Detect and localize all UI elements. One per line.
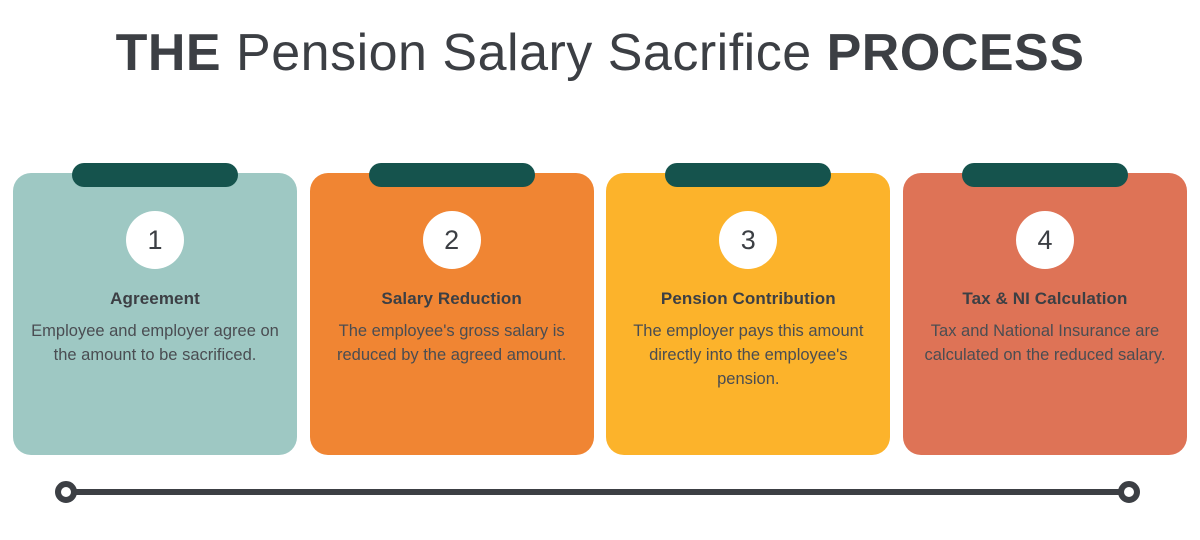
card-tab-4: [962, 163, 1128, 187]
step-number-1: 1: [147, 227, 162, 254]
title-prefix: THE: [116, 24, 222, 82]
process-step-card-1[interactable]: 1 Agreement Employee and employer agree …: [13, 163, 297, 455]
step-title-4: Tax & NI Calculation: [962, 289, 1127, 309]
page-title: THE Pension Salary Sacrifice PROCESS: [0, 22, 1200, 84]
step-number-3: 3: [741, 227, 756, 254]
card-body-4: 4 Tax & NI Calculation Tax and National …: [903, 173, 1187, 455]
timeline-line: [66, 489, 1129, 495]
card-body-1: 1 Agreement Employee and employer agree …: [13, 173, 297, 455]
step-description-4: Tax and National Insurance are calculate…: [920, 319, 1170, 367]
process-step-card-2[interactable]: 2 Salary Reduction The employee's gross …: [310, 163, 594, 455]
step-number-2: 2: [444, 227, 459, 254]
step-number-circle-3: 3: [719, 211, 777, 269]
title-middle: Pension Salary Sacrifice: [236, 24, 812, 82]
timeline-end-dot-icon: [1118, 481, 1140, 503]
card-tab-1: [72, 163, 238, 187]
process-steps-row: 1 Agreement Employee and employer agree …: [13, 163, 1187, 455]
infographic-canvas: THE Pension Salary Sacrifice PROCESS 1 A…: [0, 0, 1200, 540]
step-description-2: The employee's gross salary is reduced b…: [327, 319, 577, 367]
step-number-circle-1: 1: [126, 211, 184, 269]
card-tab-3: [665, 163, 831, 187]
card-body-2: 2 Salary Reduction The employee's gross …: [310, 173, 594, 455]
step-title-2: Salary Reduction: [381, 289, 521, 309]
title-suffix: PROCESS: [827, 24, 1085, 82]
step-description-1: Employee and employer agree on the amoun…: [30, 319, 280, 367]
step-description-3: The employer pays this amount directly i…: [623, 319, 873, 391]
process-step-card-3[interactable]: 3 Pension Contribution The employer pays…: [606, 163, 890, 455]
step-number-circle-4: 4: [1016, 211, 1074, 269]
timeline-start-dot-icon: [55, 481, 77, 503]
step-number-circle-2: 2: [423, 211, 481, 269]
step-title-1: Agreement: [110, 289, 200, 309]
process-step-card-4[interactable]: 4 Tax & NI Calculation Tax and National …: [903, 163, 1187, 455]
step-number-4: 4: [1037, 227, 1052, 254]
card-tab-2: [369, 163, 535, 187]
step-title-3: Pension Contribution: [661, 289, 836, 309]
card-body-3: 3 Pension Contribution The employer pays…: [606, 173, 890, 455]
timeline-bar: [55, 481, 1140, 503]
